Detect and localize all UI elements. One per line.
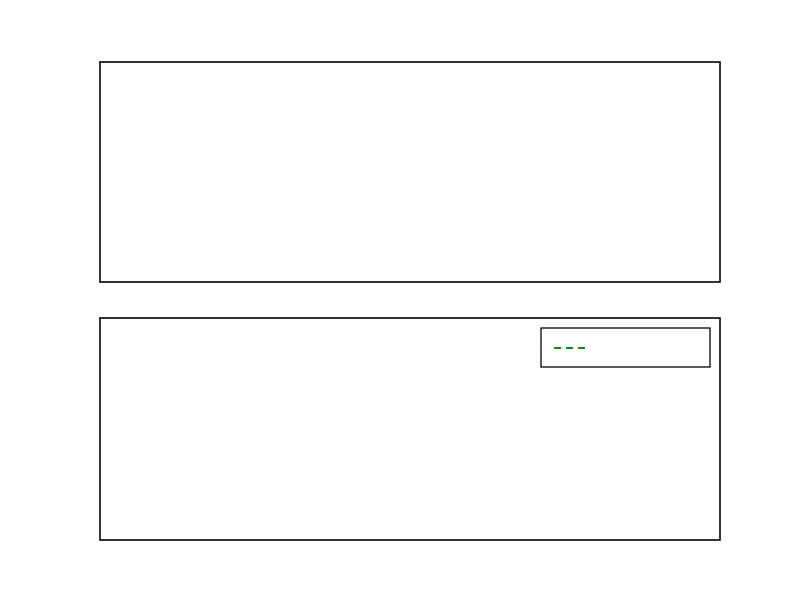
legend[interactable] (541, 328, 710, 367)
top-axes (100, 62, 720, 282)
bottom-axes (0, 0, 720, 540)
top-axes-frame (100, 62, 720, 282)
matplotlib-figure (0, 0, 800, 600)
figure-canvas (0, 0, 800, 600)
